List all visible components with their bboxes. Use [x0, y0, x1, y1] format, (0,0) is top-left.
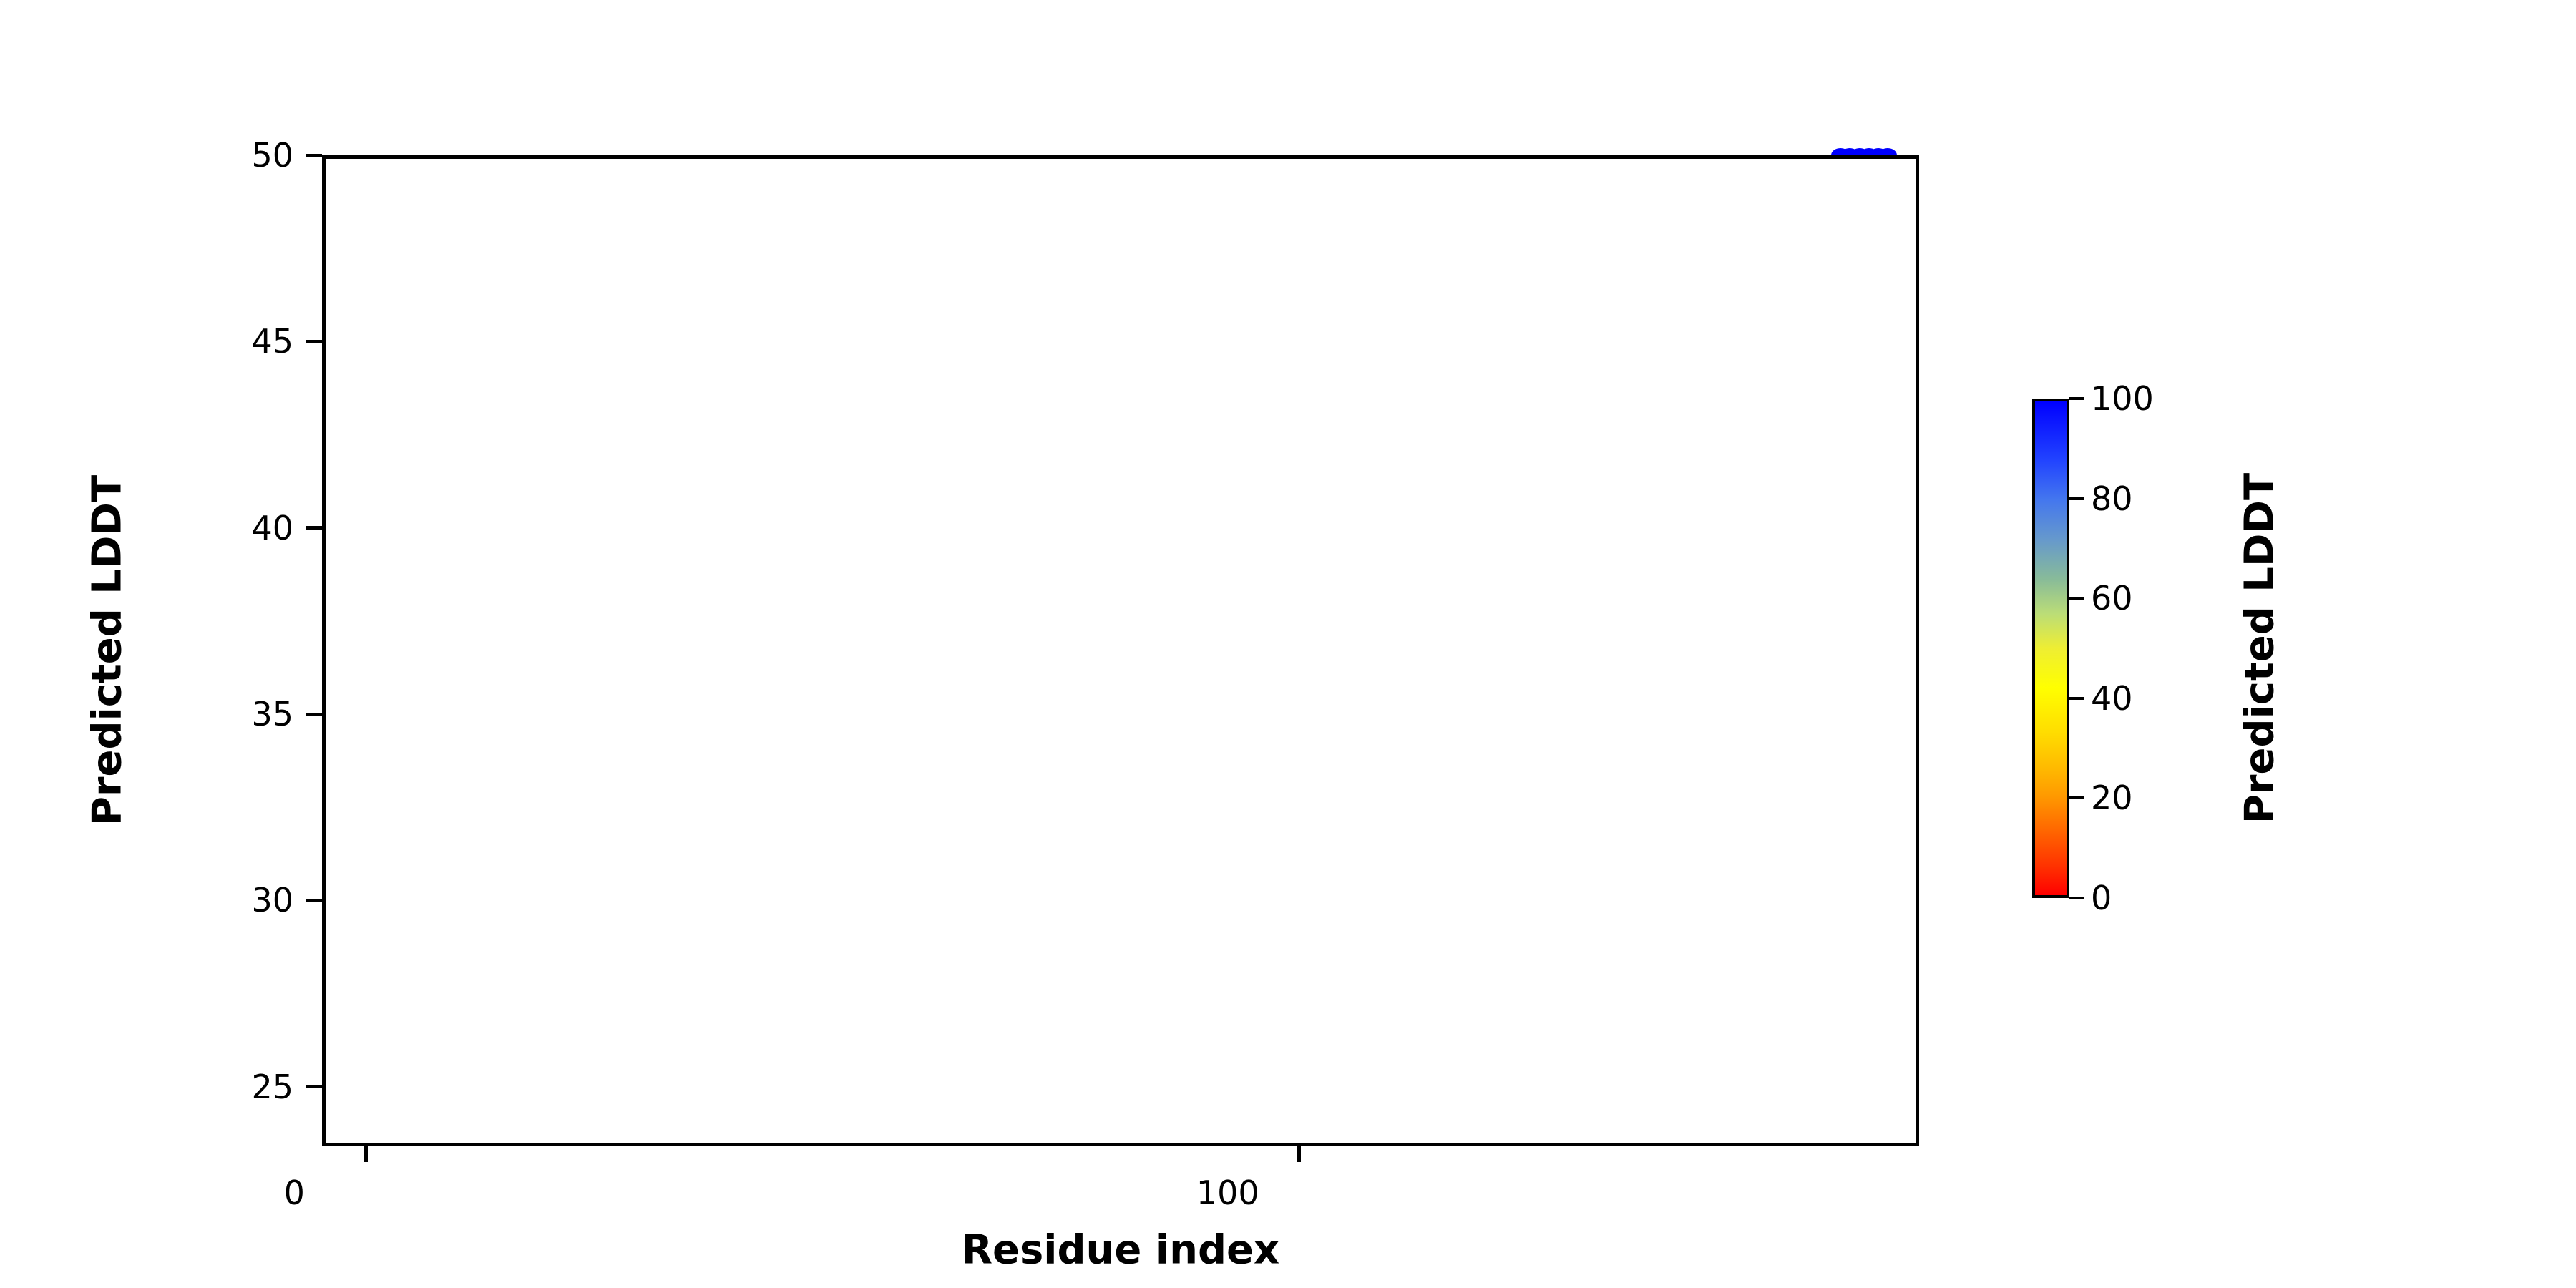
scatter-plot-figure: 2530354045500100020406080100 Predicted L… [0, 0, 2576, 1288]
colorbar-tick-label: 20 [2091, 779, 2133, 817]
y-tick-label: 50 [143, 136, 293, 175]
x-axis-title: Residue index [962, 1227, 1279, 1274]
colorbar-tick-mark [2069, 697, 2084, 700]
colorbar-tick-mark [2069, 497, 2084, 500]
colorbar-title: Predicted LDDT [2237, 473, 2283, 824]
y-tick-label: 45 [143, 322, 293, 361]
colorbar-tick-label: 80 [2091, 479, 2133, 518]
colorbar-tick-label: 40 [2091, 679, 2133, 718]
y-tick-label: 25 [143, 1068, 293, 1106]
y-tick-mark [306, 154, 322, 157]
colorbar-gradient [2032, 399, 2069, 898]
colorbar-tick-label: 0 [2091, 879, 2112, 917]
colorbar-tick-mark [2069, 397, 2084, 400]
y-tick-mark [306, 340, 322, 343]
y-tick-mark [306, 526, 322, 530]
y-tick-label: 40 [143, 509, 293, 547]
y-tick-label: 30 [143, 881, 293, 919]
x-tick-mark [1297, 1146, 1301, 1162]
y-tick-mark [306, 899, 322, 902]
colorbar-tick-mark [2069, 897, 2084, 899]
y-tick-mark [306, 1085, 322, 1088]
x-tick-label: 0 [223, 1174, 366, 1212]
colorbar-tick-mark [2069, 597, 2084, 600]
x-tick-mark [364, 1146, 368, 1162]
y-tick-mark [306, 713, 322, 716]
y-axis-title: Predicted LDDT [84, 475, 131, 826]
colorbar-tick-label: 60 [2091, 579, 2133, 618]
axis-ticks-layer: 2530354045500100020406080100 [0, 0, 2576, 1288]
colorbar-tick-label: 100 [2091, 379, 2154, 418]
y-tick-label: 35 [143, 695, 293, 733]
colorbar-tick-mark [2069, 796, 2084, 799]
x-tick-label: 100 [1156, 1174, 1299, 1212]
